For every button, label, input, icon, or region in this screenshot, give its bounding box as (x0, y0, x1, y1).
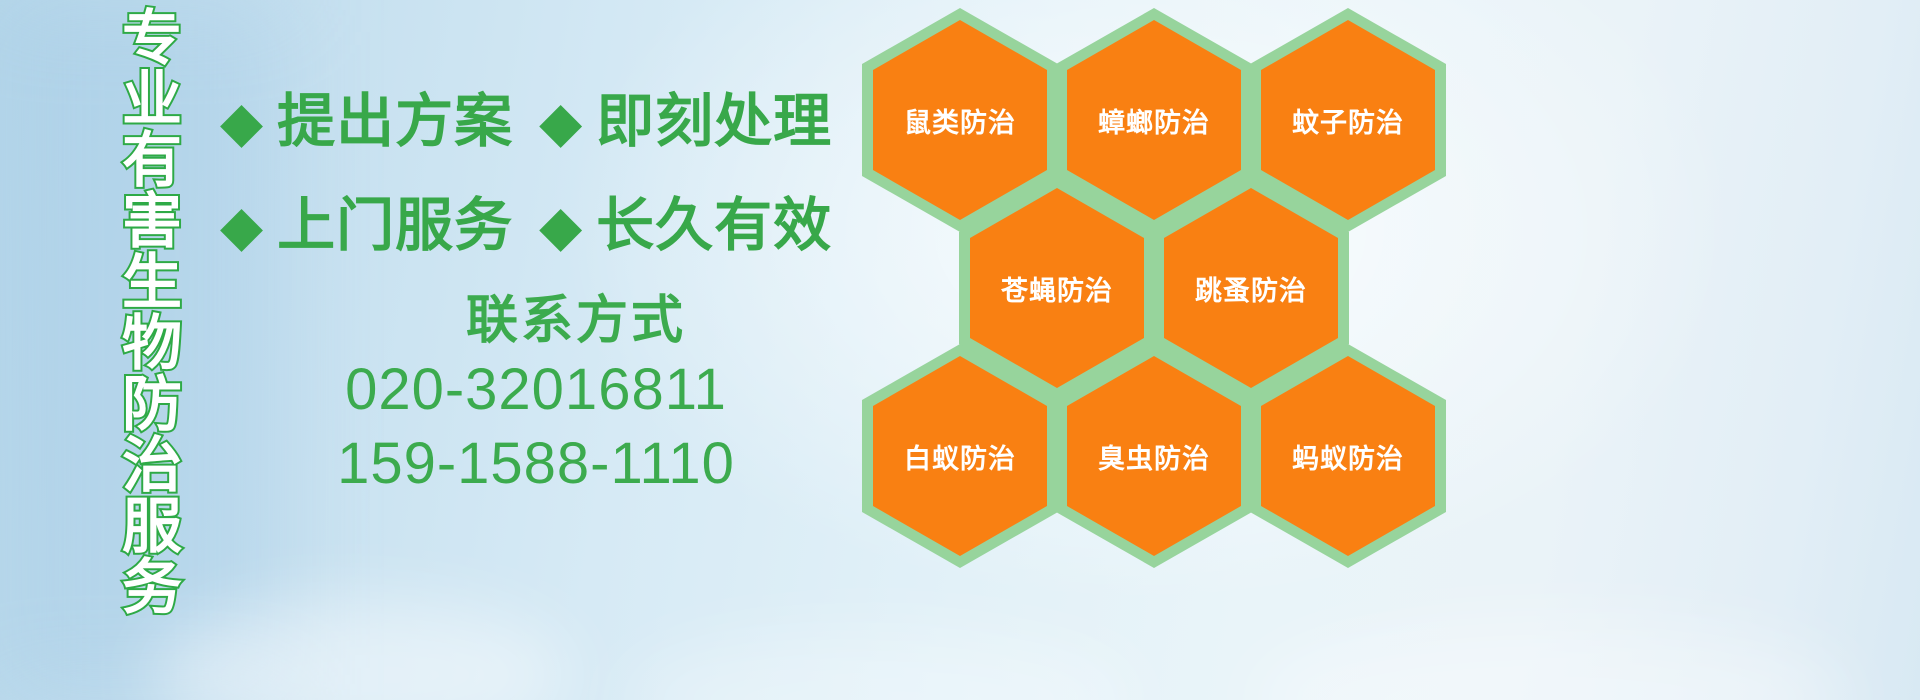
vertical-slogan: 专 业 有 害 生 物 防 治 服 务 (104, 8, 200, 618)
phone-number-mobile[interactable]: 159-1588-1110 (220, 430, 852, 498)
vertical-slogan-char: 专 (122, 8, 182, 69)
diamond-bullet-icon: ◆ (539, 198, 582, 254)
service-label: 白蚁防治 (904, 437, 1016, 476)
vertical-slogan-char: 防 (122, 374, 182, 435)
feature-label: 长久有效 (596, 196, 832, 256)
service-hex-bedbug[interactable]: 臭虫防治 (1056, 344, 1252, 568)
vertical-slogan-char: 服 (122, 496, 182, 557)
vertical-slogan-char: 务 (122, 557, 182, 618)
feature-label: 上门服务 (277, 196, 513, 256)
vertical-slogan-char: 业 (122, 69, 182, 130)
contact-area: 联系方式 020-32016811 159-1588-1110 (220, 292, 870, 498)
service-label: 蟑螂防治 (1098, 101, 1210, 140)
feature-label: 即刻处理 (596, 92, 832, 152)
vertical-slogan-char: 生 (122, 252, 182, 313)
pest-control-service-banner: 专 业 有 害 生 物 防 治 服 务 ◆ 提出方案 ◆ 即刻处理 ◆ 上门服务… (0, 0, 1920, 700)
contact-title: 联系方式 (300, 292, 852, 350)
service-hex-termite[interactable]: 白蚁防治 (862, 344, 1058, 568)
middle-text-block: ◆ 提出方案 ◆ 即刻处理 ◆ 上门服务 ◆ 长久有效 联系方式 020-320… (220, 70, 870, 498)
service-label: 蚂蚁防治 (1292, 437, 1404, 476)
diamond-bullet-icon: ◆ (220, 198, 263, 254)
service-label: 鼠类防治 (904, 101, 1016, 140)
vertical-slogan-char: 治 (122, 435, 182, 496)
background-wash-1 (150, 600, 570, 700)
vertical-slogan-char: 物 (122, 313, 182, 374)
service-label: 苍蝇防治 (1001, 269, 1113, 308)
background-wash-3 (1250, 620, 1850, 700)
diamond-bullet-icon: ◆ (539, 94, 582, 150)
service-label: 臭虫防治 (1098, 437, 1210, 476)
feature-row-2: ◆ 上门服务 ◆ 长久有效 (220, 174, 870, 278)
vertical-slogan-char: 有 (122, 130, 182, 191)
phone-number-landline[interactable]: 020-32016811 (220, 356, 852, 424)
diamond-bullet-icon: ◆ (220, 94, 263, 150)
background-wash-2 (620, 630, 1140, 700)
service-honeycomb-grid: 鼠类防治 蟑螂防治 蚊子防治 苍蝇防治 跳蚤防治 (852, 0, 1452, 560)
vertical-slogan-char: 害 (122, 191, 182, 252)
feature-label: 提出方案 (277, 92, 513, 152)
feature-row-1: ◆ 提出方案 ◆ 即刻处理 (220, 70, 870, 174)
service-label: 跳蚤防治 (1195, 269, 1307, 308)
service-hex-ant[interactable]: 蚂蚁防治 (1250, 344, 1446, 568)
service-label: 蚊子防治 (1292, 101, 1404, 140)
